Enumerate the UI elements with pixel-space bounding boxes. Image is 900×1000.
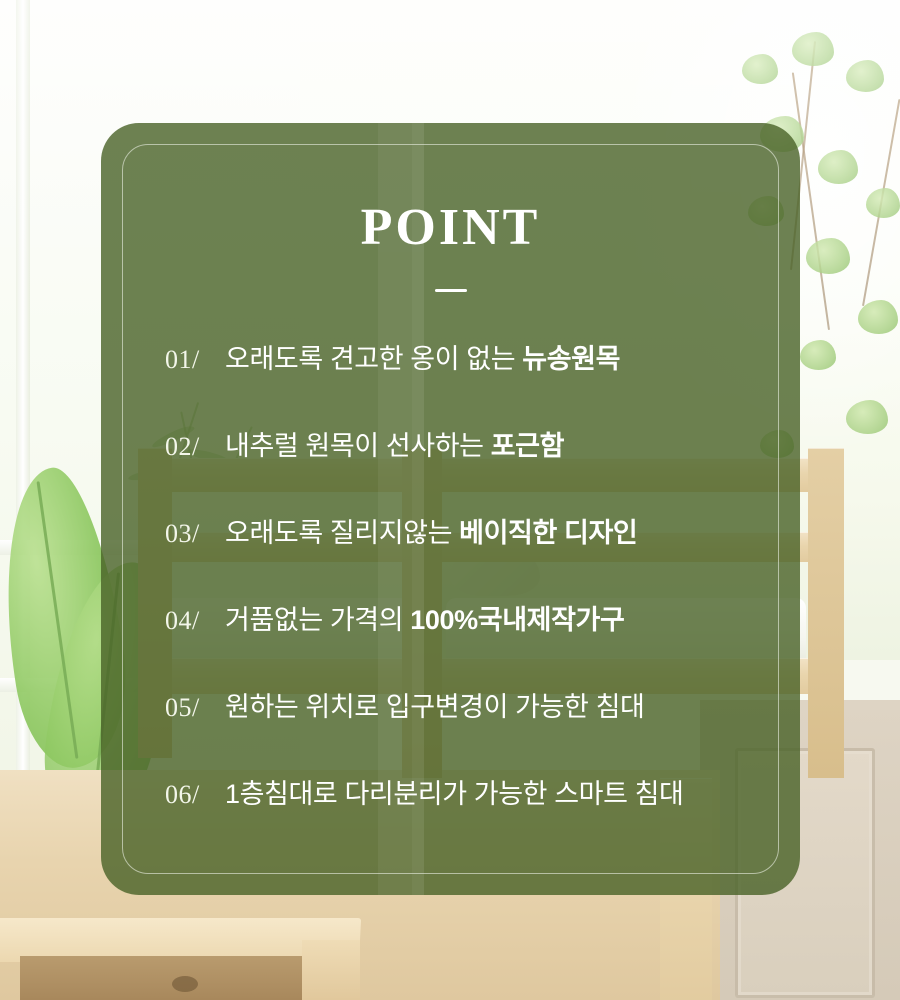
list-item-text: 1층침대로 다리분리가 가능한 스마트 침대 [225,772,684,811]
bed-post-right [808,448,844,778]
list-item: 03/ 오래도록 질리지않는 베이직한 디자인 [165,511,780,598]
list-item-text: 오래도록 질리지않는 베이직한 디자인 [225,511,637,550]
list-item-text-regular: 거품없는 가격의 [225,605,410,635]
list-item-text-bold: 베이직한 디자인 [459,518,637,548]
list-item-number: 04/ [165,606,225,636]
nightstand-side [302,940,360,1000]
list-item-text-regular: 내추럴 원목이 선사하는 [225,431,491,461]
point-panel: POINT 01/ 오래도록 견고한 옹이 없는 뉴송원목 02/ 내추럴 원목… [101,123,800,895]
ivy-leaf-icon [792,32,834,66]
list-item-text-bold: 뉴송원목 [522,344,620,374]
list-item-text: 원하는 위치로 입구변경이 가능한 침대 [225,685,644,724]
list-item-text-regular: 오래도록 질리지않는 [225,518,459,548]
list-item-text: 거품없는 가격의 100%국내제작가구 [225,598,624,637]
list-item-text-bold: 포근함 [491,431,564,461]
promo-banner: POINT 01/ 오래도록 견고한 옹이 없는 뉴송원목 02/ 내추럴 원목… [0,0,900,1000]
list-item-number: 06/ [165,780,225,810]
ivy-leaf-icon [846,60,884,92]
list-item-number: 05/ [165,693,225,723]
list-item: 06/ 1층침대로 다리분리가 가능한 스마트 침대 [165,772,780,859]
ivy-leaf-icon [866,188,900,218]
list-item: 05/ 원하는 위치로 입구변경이 가능한 침대 [165,685,780,772]
list-item-number: 02/ [165,432,225,462]
list-item-number: 03/ [165,519,225,549]
point-list: 01/ 오래도록 견고한 옹이 없는 뉴송원목 02/ 내추럴 원목이 선사하는… [165,337,780,859]
ivy-leaf-icon [818,150,858,184]
list-item: 01/ 오래도록 견고한 옹이 없는 뉴송원목 [165,337,780,424]
list-item-number: 01/ [165,345,225,375]
ivy-leaf-icon [806,238,850,274]
nightstand-knob [172,976,198,992]
list-item-text-regular: 1층침대로 다리분리가 가능한 스마트 침대 [225,779,684,809]
ivy-leaf-icon [858,300,898,334]
list-item: 02/ 내추럴 원목이 선사하는 포근함 [165,424,780,511]
ivy-leaf-icon [742,54,778,84]
list-item-text-regular: 오래도록 견고한 옹이 없는 [225,344,522,374]
list-item-text-regular: 원하는 위치로 입구변경이 가능한 침대 [225,692,644,722]
ivy-leaf-icon [846,400,888,434]
list-item: 04/ 거품없는 가격의 100%국내제작가구 [165,598,780,685]
list-item-text-bold: 100%국내제작가구 [410,605,624,635]
list-item-text: 내추럴 원목이 선사하는 포근함 [225,424,564,463]
title-divider [435,289,467,292]
ivy-leaf-icon [800,340,836,370]
list-item-text: 오래도록 견고한 옹이 없는 뉴송원목 [225,337,620,376]
page-title: POINT [101,202,800,254]
